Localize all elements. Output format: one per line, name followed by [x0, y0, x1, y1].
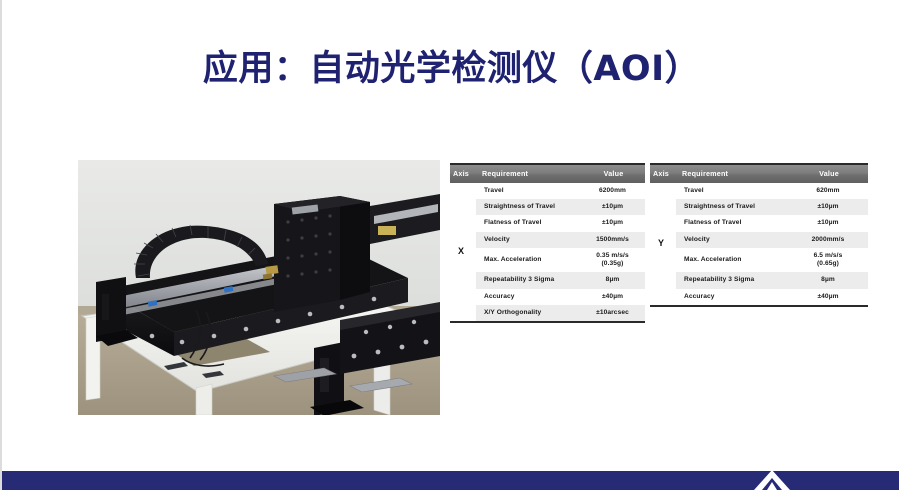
value-cell: 0.35 m/s/s (0.35g): [580, 248, 645, 272]
table-row: Velocity 1500mm/s: [450, 232, 645, 248]
value-cell: ±40µm: [580, 289, 645, 305]
header-axis: Axis: [650, 164, 676, 183]
table-row: Flatness of Travel ±10µm: [650, 215, 868, 231]
table-header-row: Axis Requirement Value: [450, 164, 645, 183]
table-row: Straightness of Travel ±10µm: [450, 199, 645, 215]
value-cell: ±10arcsec: [580, 305, 645, 322]
value-cell: 6.5 m/s/s (0.65g): [788, 248, 868, 272]
table-row: Repeatability 3 Sigma 8µm: [450, 272, 645, 288]
header-value: Value: [788, 164, 868, 183]
table-row: Y Travel 620mm: [650, 183, 868, 199]
value-main: 6.5 m/s/s: [814, 252, 843, 259]
requirement-cell: Travel: [476, 183, 580, 199]
value-cell: 620mm: [788, 183, 868, 199]
value-cell: ±10µm: [580, 215, 645, 231]
value-cell: 2000mm/s: [788, 232, 868, 248]
table-row: X Travel 6200mm: [450, 183, 645, 199]
header-requirement: Requirement: [476, 164, 580, 183]
requirement-cell: Velocity: [476, 232, 580, 248]
requirement-cell: Repeatability 3 Sigma: [676, 272, 788, 288]
table-row: Max. Acceleration 6.5 m/s/s (0.65g): [650, 248, 868, 272]
y-axis-carriage: [263, 196, 370, 312]
requirement-cell: Max. Acceleration: [476, 248, 580, 272]
x-axis-spec-table: Axis Requirement Value X Travel 6200mm S…: [450, 163, 645, 323]
value-sub: (0.65g): [792, 260, 864, 268]
machine-illustration: [78, 160, 440, 415]
table-row: Velocity 2000mm/s: [650, 232, 868, 248]
value-sub: (0.35g): [584, 260, 641, 268]
axis-label-x: X: [450, 183, 476, 322]
aoi-machine-photo: [78, 160, 440, 415]
header-requirement: Requirement: [676, 164, 788, 183]
requirement-cell: Flatness of Travel: [676, 215, 788, 231]
value-cell: ±10µm: [788, 199, 868, 215]
requirement-cell: Max. Acceleration: [676, 248, 788, 272]
triangle-a-icon: [746, 470, 798, 490]
table-row: Flatness of Travel ±10µm: [450, 215, 645, 231]
requirement-cell: Repeatability 3 Sigma: [476, 272, 580, 288]
value-cell: 6200mm: [580, 183, 645, 199]
table-row: X/Y Orthogonality ±10arcsec: [450, 305, 645, 322]
header-axis: Axis: [450, 164, 476, 183]
value-cell: ±10µm: [788, 215, 868, 231]
requirement-cell: Straightness of Travel: [676, 199, 788, 215]
value-cell: 1500mm/s: [580, 232, 645, 248]
requirement-cell: Flatness of Travel: [476, 215, 580, 231]
table-row: Accuracy ±40µm: [450, 289, 645, 305]
page-title: 应用：自动光学检测仪（AOI）: [2, 40, 899, 91]
requirement-cell: Travel: [676, 183, 788, 199]
table-row: Accuracy ±40µm: [650, 289, 868, 306]
value-cell: ±10µm: [580, 199, 645, 215]
table-row: Repeatability 3 Sigma 8µm: [650, 272, 868, 288]
value-cell: ±40µm: [788, 289, 868, 306]
header-value: Value: [580, 164, 645, 183]
value-cell: 8µm: [788, 272, 868, 288]
requirement-cell: Straightness of Travel: [476, 199, 580, 215]
table-row: Max. Acceleration 0.35 m/s/s (0.35g): [450, 248, 645, 272]
requirement-cell: Accuracy: [676, 289, 788, 306]
table-row: Straightness of Travel ±10µm: [650, 199, 868, 215]
requirement-cell: Accuracy: [476, 289, 580, 305]
presentation-slide: 应用：自动光学检测仪（AOI）: [0, 0, 899, 490]
footer-logo-mark: [746, 470, 798, 490]
value-main: 0.35 m/s/s: [596, 252, 629, 259]
axis-label-y: Y: [650, 183, 676, 306]
requirement-cell: Velocity: [676, 232, 788, 248]
y-axis-spec-table: Axis Requirement Value Y Travel 620mm St…: [650, 163, 868, 307]
table-header-row: Axis Requirement Value: [650, 164, 868, 183]
value-cell: 8µm: [580, 272, 645, 288]
requirement-cell: X/Y Orthogonality: [476, 305, 580, 322]
